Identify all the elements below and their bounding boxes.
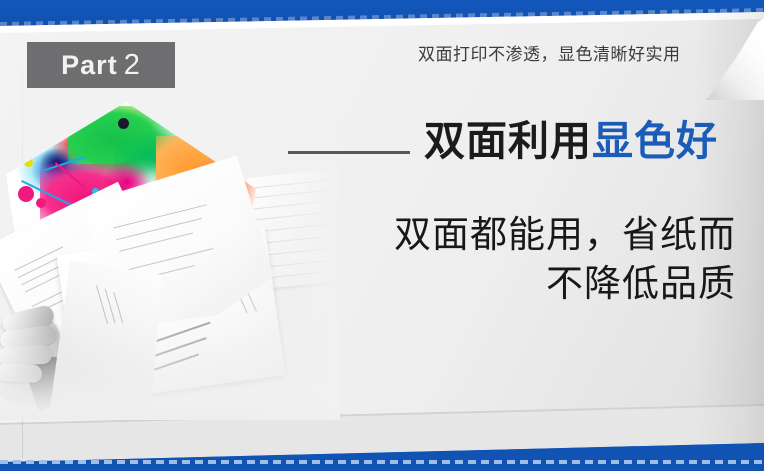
subheadline: 双面都能用，省纸而 不降低品质 [306, 210, 736, 308]
headline-accent-part: 显色好 [592, 118, 718, 164]
product-photo [0, 90, 340, 420]
part-badge: Part2 [27, 42, 175, 88]
promo-banner: Part2 双面打印不渗透，显色清晰好实用 双面利用显色好 双面都能用，省纸而 … [0, 0, 764, 471]
page-curl-icon [700, 18, 764, 100]
part-badge-text: Part [61, 50, 118, 80]
subheadline-line-1: 双面都能用，省纸而 [306, 210, 736, 259]
kicker-text: 双面打印不渗透，显色清晰好实用 [418, 40, 681, 65]
bottom-dashed-line [0, 460, 764, 464]
headline-dark-part: 双面利用 [424, 118, 592, 164]
headline: 双面利用显色好 [424, 121, 718, 162]
part-badge-number: 2 [124, 49, 141, 81]
headline-rule [288, 151, 410, 154]
part-badge-label: Part2 [61, 51, 141, 80]
subheadline-line-2: 不降低品质 [306, 259, 736, 308]
